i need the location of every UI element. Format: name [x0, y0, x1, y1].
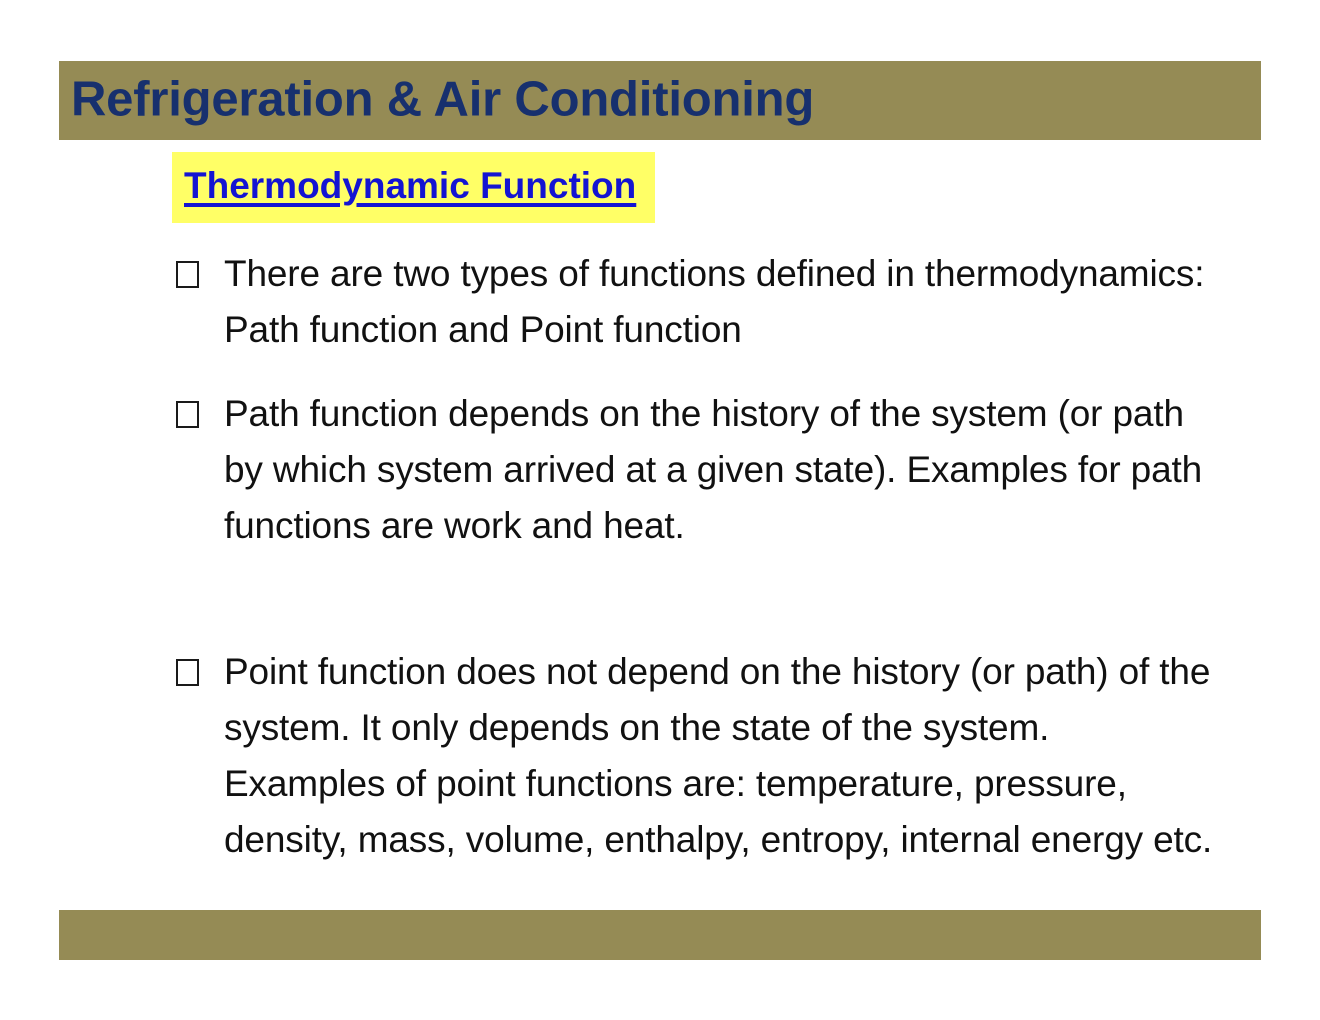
list-item: There are two types of functions defined…	[176, 246, 1216, 358]
hollow-square-bullet-icon	[176, 659, 199, 686]
list-item-text: There are two types of functions defined…	[224, 246, 1216, 358]
page-title: Refrigeration & Air Conditioning	[71, 75, 814, 124]
hollow-square-bullet-icon	[176, 261, 199, 288]
list-item-text: Point function does not depend on the hi…	[224, 644, 1216, 868]
list-item: Point function does not depend on the hi…	[176, 644, 1216, 868]
list-item: Path function depends on the history of …	[176, 386, 1216, 554]
hollow-square-bullet-icon	[176, 401, 199, 428]
list-item-text: Path function depends on the history of …	[224, 386, 1216, 554]
slide-canvas: Refrigeration & Air Conditioning Thermod…	[0, 0, 1320, 1020]
subtitle-text: Thermodynamic Function	[184, 165, 636, 206]
title-band: Refrigeration & Air Conditioning	[59, 61, 1261, 140]
subtitle-container: Thermodynamic Function	[172, 152, 655, 223]
bullet-list: There are two types of functions defined…	[176, 246, 1216, 868]
footer-band	[59, 910, 1261, 960]
subtitle-highlight: Thermodynamic Function	[172, 152, 655, 223]
